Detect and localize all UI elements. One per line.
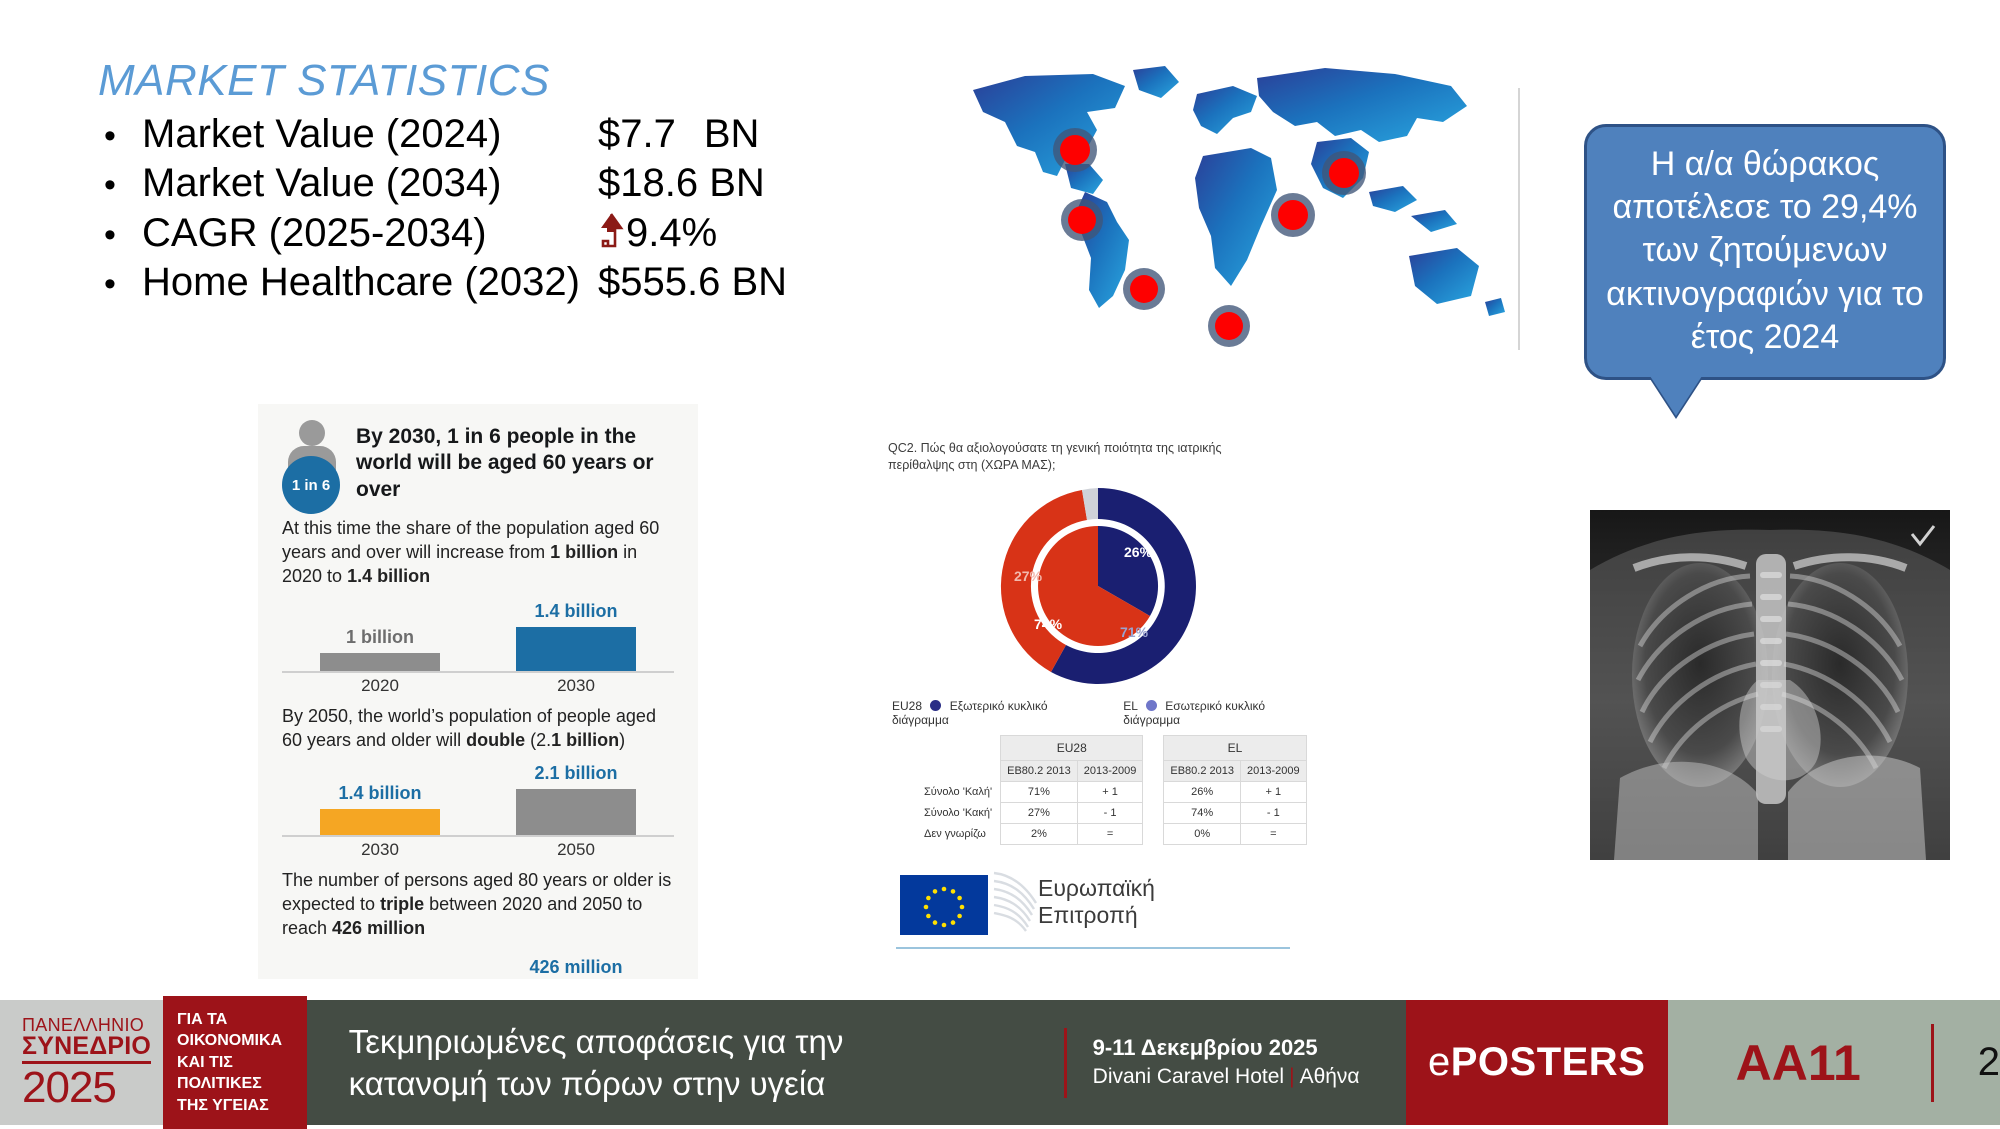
group-header-el: EL (1164, 735, 1306, 760)
cell: = (1077, 824, 1143, 845)
cell: - 1 (1077, 803, 1143, 824)
bar (516, 789, 636, 835)
bullet-value: $555.6 BN (598, 258, 787, 307)
sub-header: EB80.2 2013 (1001, 760, 1078, 782)
row-label: Σύνολο 'Κακή' (918, 803, 1001, 824)
row-label: Σύνολο 'Καλή' (918, 782, 1001, 803)
bullet-icon: • (98, 119, 142, 153)
chart-question: QC2. Πώς θα αξιολογούσατε τη γενική ποιό… (888, 440, 1288, 474)
cell: 74% (1164, 803, 1241, 824)
list-item: • CAGR (2025-2034) 9.4% (98, 208, 978, 258)
list-item: • Market Value (2024) $7.7 BN (98, 110, 978, 159)
page-number: 2 (1978, 1040, 2000, 1085)
who-bar-chart-1: 1 billion 1.4 billion 2020 2030 (282, 595, 674, 691)
bar-label: 1.4 billion (338, 783, 421, 804)
bar (516, 627, 636, 671)
bar-year: 2030 (490, 676, 662, 696)
legend-code: EU28 (892, 699, 922, 713)
legend-dot-icon (930, 700, 941, 711)
bullet-label: CAGR (2025-2034) (142, 209, 598, 258)
bullet-amount: $555.6 BN (598, 258, 787, 307)
table-row: Σύνολο 'Κακή' 27% - 1 74% - 1 (918, 803, 1306, 824)
footer-date: 9-11 Δεκεμβρίου 2025 (1093, 1033, 1360, 1063)
european-commission-logo: Ευρωπαϊκή Επιτροπή (888, 867, 1308, 955)
chest-xray-image (1590, 510, 1950, 860)
footer-date-venue: 9-11 Δεκεμβρίου 2025 Divani Caravel Hote… (1064, 1000, 1406, 1125)
one-in-six-badge: 1 in 6 (282, 456, 340, 514)
bullet-label: Home Healthcare (2032) (142, 258, 598, 307)
bullet-icon: • (98, 267, 142, 301)
bullet-value: 9.4% (598, 208, 717, 258)
map-pin (1060, 135, 1090, 165)
cell: + 1 (1240, 782, 1306, 803)
table-row-group-headers: EU28 EL (918, 735, 1306, 760)
callout-text: Η α/α θώρακος αποτέλεσε το 29,4% των ζητ… (1584, 124, 1946, 380)
footer-code-page: AA11 2 (1668, 1000, 2000, 1125)
table-row: Σύνολο 'Καλή' 71% + 1 26% + 1 (918, 782, 1306, 803)
divider (1064, 1028, 1067, 1098)
bullet-label: Market Value (2024) (142, 110, 598, 159)
ec-rule (896, 947, 1290, 949)
eurobarometer-figure: QC2. Πώς θα αξιολογούσατε τη γενική ποιό… (888, 440, 1308, 980)
bullet-amount: $18.6 BN (598, 159, 765, 208)
congress-logo: ΠΑΝΕΛΛΗΝΙΟ ΣΥΝΕΔΡΙΟ 2025 ΓΙΑ ΤΑ ΟΙΚΟΝΟΜΙ… (0, 1000, 307, 1125)
world-map-svg (965, 60, 1520, 350)
table-row: Δεν γνωρίζω 2% = 0% = (918, 824, 1306, 845)
sub-header: 2013-2009 (1240, 760, 1306, 782)
bullet-amount: $7.7 (598, 110, 676, 159)
bullet-amount: 9.4% (626, 209, 717, 258)
donut-svg (973, 484, 1223, 689)
sub-header: 2013-2009 (1077, 760, 1143, 782)
eu-flag-icon (900, 875, 988, 935)
bullet-label: Market Value (2034) (142, 159, 598, 208)
bar-year: 2020 (294, 676, 466, 696)
cell: 26% (1164, 782, 1241, 803)
congress-logo-subtitle: ΓΙΑ ΤΑ ΟΙΚΟΝΟΜΙΚΑ ΚΑΙ ΤΙΣ ΠΟΛΙΤΙΚΕΣ ΤΗΣ … (163, 996, 307, 1129)
page-title: MARKET STATISTICS (98, 58, 978, 104)
xray-svg (1590, 510, 1950, 860)
cell: = (1240, 824, 1306, 845)
list-item: • Home Healthcare (2032) $555.6 BN (98, 258, 978, 307)
map-pin (1278, 200, 1308, 230)
legend-entry-el: EL Εσωτερικό κυκλικό διάγραμμα (1123, 699, 1308, 727)
donut-label-outer-bad: 27% (1014, 568, 1042, 584)
legend-text: Εσωτερικό κυκλικό διάγραμμα (1123, 699, 1265, 727)
footer-congress-title: Τεκμηριωμένες αποφάσεις για την κατανομή… (307, 1000, 1064, 1125)
bar (320, 653, 440, 671)
who-bar-chart-3: 143 million 426 million 2020 2050 (282, 947, 674, 979)
legend-code: EL (1123, 699, 1137, 713)
bar-year: 2030 (294, 840, 466, 860)
donut-label-inner-bad: 74% (1034, 616, 1062, 632)
who-paragraph-2: By 2050, the world’s population of peopl… (282, 705, 674, 753)
donut-chart: 27% 26% 74% 71% (888, 480, 1308, 695)
bar-label: 426 million (529, 957, 622, 978)
up-arrow-icon (598, 212, 624, 250)
world-map-image (965, 60, 1520, 350)
cell: + 1 (1077, 782, 1143, 803)
bar-label: 1.4 billion (534, 601, 617, 622)
slide: MARKET STATISTICS • Market Value (2024) … (0, 0, 2000, 1125)
who-ageing-infographic: 1 in 6 By 2030, 1 in 6 people in the wor… (258, 404, 698, 979)
who-bar-chart-2: 1.4 billion 2.1 billion 2030 2050 (282, 759, 674, 855)
eposters-badge: ePOSTERS (1406, 1000, 1668, 1125)
footer-venue: Divani Caravel Hotel|Αθήνα (1093, 1063, 1360, 1091)
map-pin (1215, 312, 1243, 340)
ec-name: Ευρωπαϊκή Επιτροπή (1038, 875, 1155, 929)
map-pin (1329, 158, 1359, 188)
cell: 2% (1001, 824, 1078, 845)
group-header-eu28: EU28 (1001, 735, 1143, 760)
who-paragraph-1: At this time the share of the population… (282, 517, 674, 589)
bar-label: 2.1 billion (534, 763, 617, 784)
donut-label-outer-good: 26% (1124, 544, 1152, 560)
legend-entry-eu28: EU28 Εξωτερικό κυκλικό διάγραμμα (892, 699, 1089, 727)
cell: - 1 (1240, 803, 1306, 824)
chart-legend: EU28 Εξωτερικό κυκλικό διάγραμμα EL Εσωτ… (892, 699, 1308, 727)
map-pin (1068, 206, 1096, 234)
person-icon: 1 in 6 (282, 420, 344, 498)
list-item: • Market Value (2034) $18.6 BN (98, 159, 978, 208)
bullet-value: $7.7 BN (598, 110, 759, 159)
bar-label: 1 billion (346, 627, 414, 648)
who-headline: By 2030, 1 in 6 people in the world will… (356, 420, 674, 503)
swoosh-icon (992, 869, 1040, 941)
bullet-icon: • (98, 168, 142, 202)
row-label: Δεν γνωρίζω (918, 824, 1001, 845)
poster-code: AA11 (1736, 1034, 1861, 1092)
bullet-value: $18.6 BN (598, 159, 765, 208)
bar (320, 809, 440, 835)
footer-bar: ΠΑΝΕΛΛΗΝΙΟ ΣΥΝΕΔΡΙΟ 2025 ΓΙΑ ΤΑ ΟΙΚΟΝΟΜΙ… (0, 1000, 2000, 1125)
table-row-sub-headers: EB80.2 2013 2013-2009 EB80.2 2013 2013-2… (918, 760, 1306, 782)
bar-year: 2050 (490, 840, 662, 860)
map-pin (1130, 275, 1158, 303)
cell: 71% (1001, 782, 1078, 803)
divider (1931, 1024, 1934, 1102)
cell: 0% (1164, 824, 1241, 845)
who-headline-row: 1 in 6 By 2030, 1 in 6 people in the wor… (282, 420, 674, 503)
cell: 27% (1001, 803, 1078, 824)
callout-bubble: Η α/α θώρακος αποτέλεσε το 29,4% των ζητ… (1584, 124, 1946, 380)
eurobarometer-table: EU28 EL EB80.2 2013 2013-2009 EB80.2 201… (918, 735, 1307, 846)
map-divider (1518, 88, 1520, 350)
donut-label-inner-good: 71% (1120, 624, 1148, 640)
callout-tail (1650, 376, 1702, 416)
bullet-icon: • (98, 218, 142, 252)
congress-logo-text: ΠΑΝΕΛΛΗΝΙΟ ΣΥΝΕΔΡΙΟ 2025 (22, 1016, 151, 1110)
sub-header: EB80.2 2013 (1164, 760, 1241, 782)
bullet-unit: BN (704, 110, 760, 159)
market-statistics-block: MARKET STATISTICS • Market Value (2024) … (98, 58, 978, 306)
legend-dot-icon (1146, 700, 1157, 711)
who-paragraph-3: The number of persons aged 80 years or o… (282, 869, 674, 941)
